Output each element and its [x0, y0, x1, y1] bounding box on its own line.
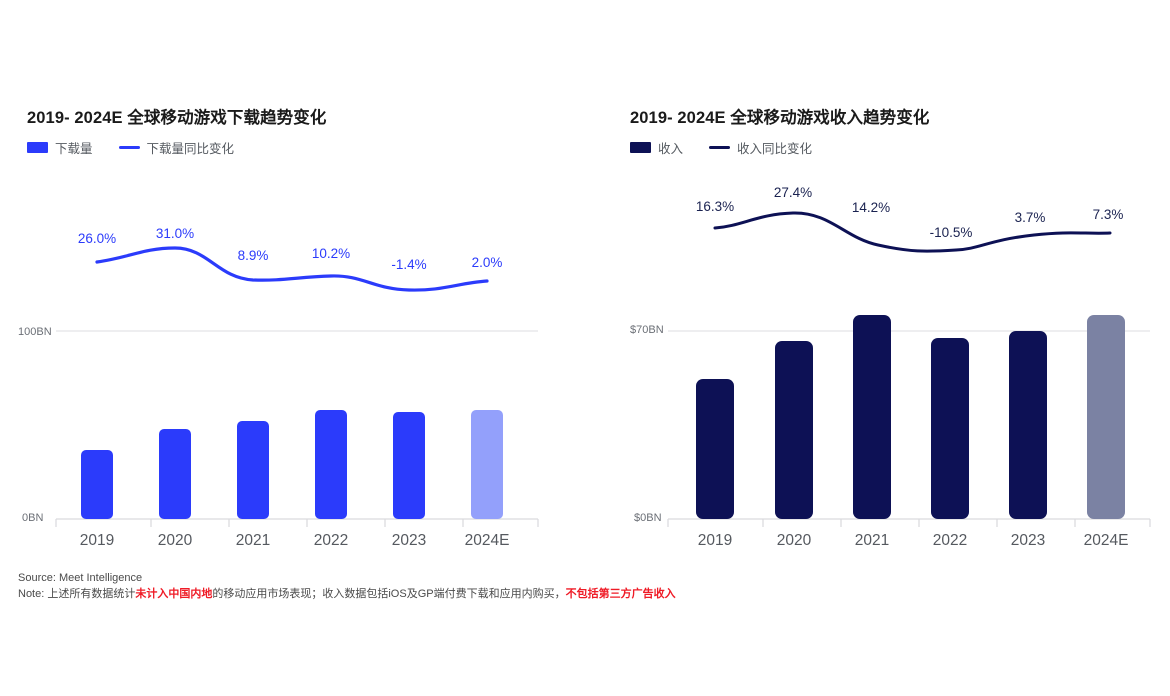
- legend-item-downloads-bar[interactable]: 下载量: [27, 138, 93, 157]
- xtick-2021: 2021: [855, 532, 889, 550]
- footnote-source: Source: Meet Intelligence: [18, 571, 676, 586]
- footnote-note-prefix: Note:: [18, 588, 47, 600]
- xtick-2024e: 2024E: [1084, 532, 1129, 550]
- ytick-top: 100BN: [18, 326, 52, 338]
- footnote-note: Note: 上述所有数据统计未计入中国内地的移动应用市场表现；收入数据包括iOS…: [18, 587, 676, 602]
- bar-2021: [237, 421, 269, 519]
- legend-label-downloads-bar: 下载量: [55, 138, 93, 157]
- line-label-2019: 16.3%: [696, 199, 734, 214]
- bar-2024e: [471, 410, 503, 519]
- line-swatch-icon: [119, 146, 140, 149]
- legend-label-revenue-line: 收入同比变化: [737, 138, 812, 157]
- xtick-2019: 2019: [80, 532, 114, 550]
- xtick-2022: 2022: [933, 532, 967, 550]
- footnote-note-highlight-1: 未计入中国内地: [135, 588, 212, 600]
- trend-line-revenue: [715, 213, 1110, 251]
- ytick-bottom: $0BN: [634, 512, 662, 524]
- legend-label-downloads-line: 下载量同比变化: [147, 138, 235, 157]
- line-label-2020: 27.4%: [774, 185, 812, 200]
- legend-item-revenue-line[interactable]: 收入同比变化: [709, 138, 812, 157]
- line-label-2023: 3.7%: [1015, 210, 1046, 225]
- bar-2019: [81, 450, 113, 519]
- xtick-2023: 2023: [392, 532, 426, 550]
- line-swatch-icon: [709, 146, 730, 149]
- trend-line-downloads: [97, 248, 487, 290]
- bar-2020: [775, 341, 813, 519]
- bar-swatch-icon: [630, 142, 651, 153]
- bar-2021: [853, 315, 891, 519]
- line-label-2022: 10.2%: [312, 246, 350, 261]
- bar-2020: [159, 429, 191, 519]
- xtick-2020: 2020: [777, 532, 811, 550]
- xtick-2020: 2020: [158, 532, 192, 550]
- line-label-2022: -10.5%: [930, 225, 973, 240]
- legend-downloads: 下载量 下载量同比变化: [27, 138, 234, 157]
- line-label-2021: 14.2%: [852, 200, 890, 215]
- line-label-2024e: 7.3%: [1093, 207, 1124, 222]
- bar-2022: [931, 338, 969, 519]
- ytick-bottom: 0BN: [22, 512, 43, 524]
- bar-2019: [696, 379, 734, 519]
- footnote: Source: Meet Intelligence Note: 上述所有数据统计…: [18, 571, 676, 601]
- revenue-chart-panel: 2019- 2024E 全球移动游戏收入趋势变化 收入 收入同比变化: [630, 0, 1170, 696]
- xtick-2024e: 2024E: [465, 532, 510, 550]
- ytick-top: $70BN: [630, 324, 664, 336]
- legend-item-downloads-line[interactable]: 下载量同比变化: [119, 138, 235, 157]
- legend-item-revenue-bar[interactable]: 收入: [630, 138, 683, 157]
- xtick-2023: 2023: [1011, 532, 1045, 550]
- page-title-revenue: 2019- 2024E 全球移动游戏收入趋势变化: [630, 104, 929, 128]
- line-label-2023: -1.4%: [391, 257, 426, 272]
- page-title-downloads: 2019- 2024E 全球移动游戏下载趋势变化: [27, 104, 326, 128]
- footnote-note-part1: 上述所有数据统计: [47, 588, 135, 600]
- line-label-2020: 31.0%: [156, 226, 194, 241]
- bar-2023: [393, 412, 425, 519]
- xtick-2022: 2022: [314, 532, 348, 550]
- legend-label-revenue-bar: 收入: [658, 138, 683, 157]
- bar-2023: [1009, 331, 1047, 519]
- bar-swatch-icon: [27, 142, 48, 153]
- bar-2024e: [1087, 315, 1125, 519]
- xtick-2021: 2021: [236, 532, 270, 550]
- line-label-2019: 26.0%: [78, 231, 116, 246]
- xtick-2019: 2019: [698, 532, 732, 550]
- bar-2022: [315, 410, 347, 519]
- line-label-2024e: 2.0%: [472, 255, 503, 270]
- line-label-2021: 8.9%: [238, 248, 269, 263]
- footnote-note-part2: 的移动应用市场表现；收入数据包括iOS及GP端付费下载和应用内购买，: [212, 588, 565, 600]
- footnote-note-highlight-2: 不包括第三方广告收入: [566, 588, 676, 600]
- legend-revenue: 收入 收入同比变化: [630, 138, 812, 157]
